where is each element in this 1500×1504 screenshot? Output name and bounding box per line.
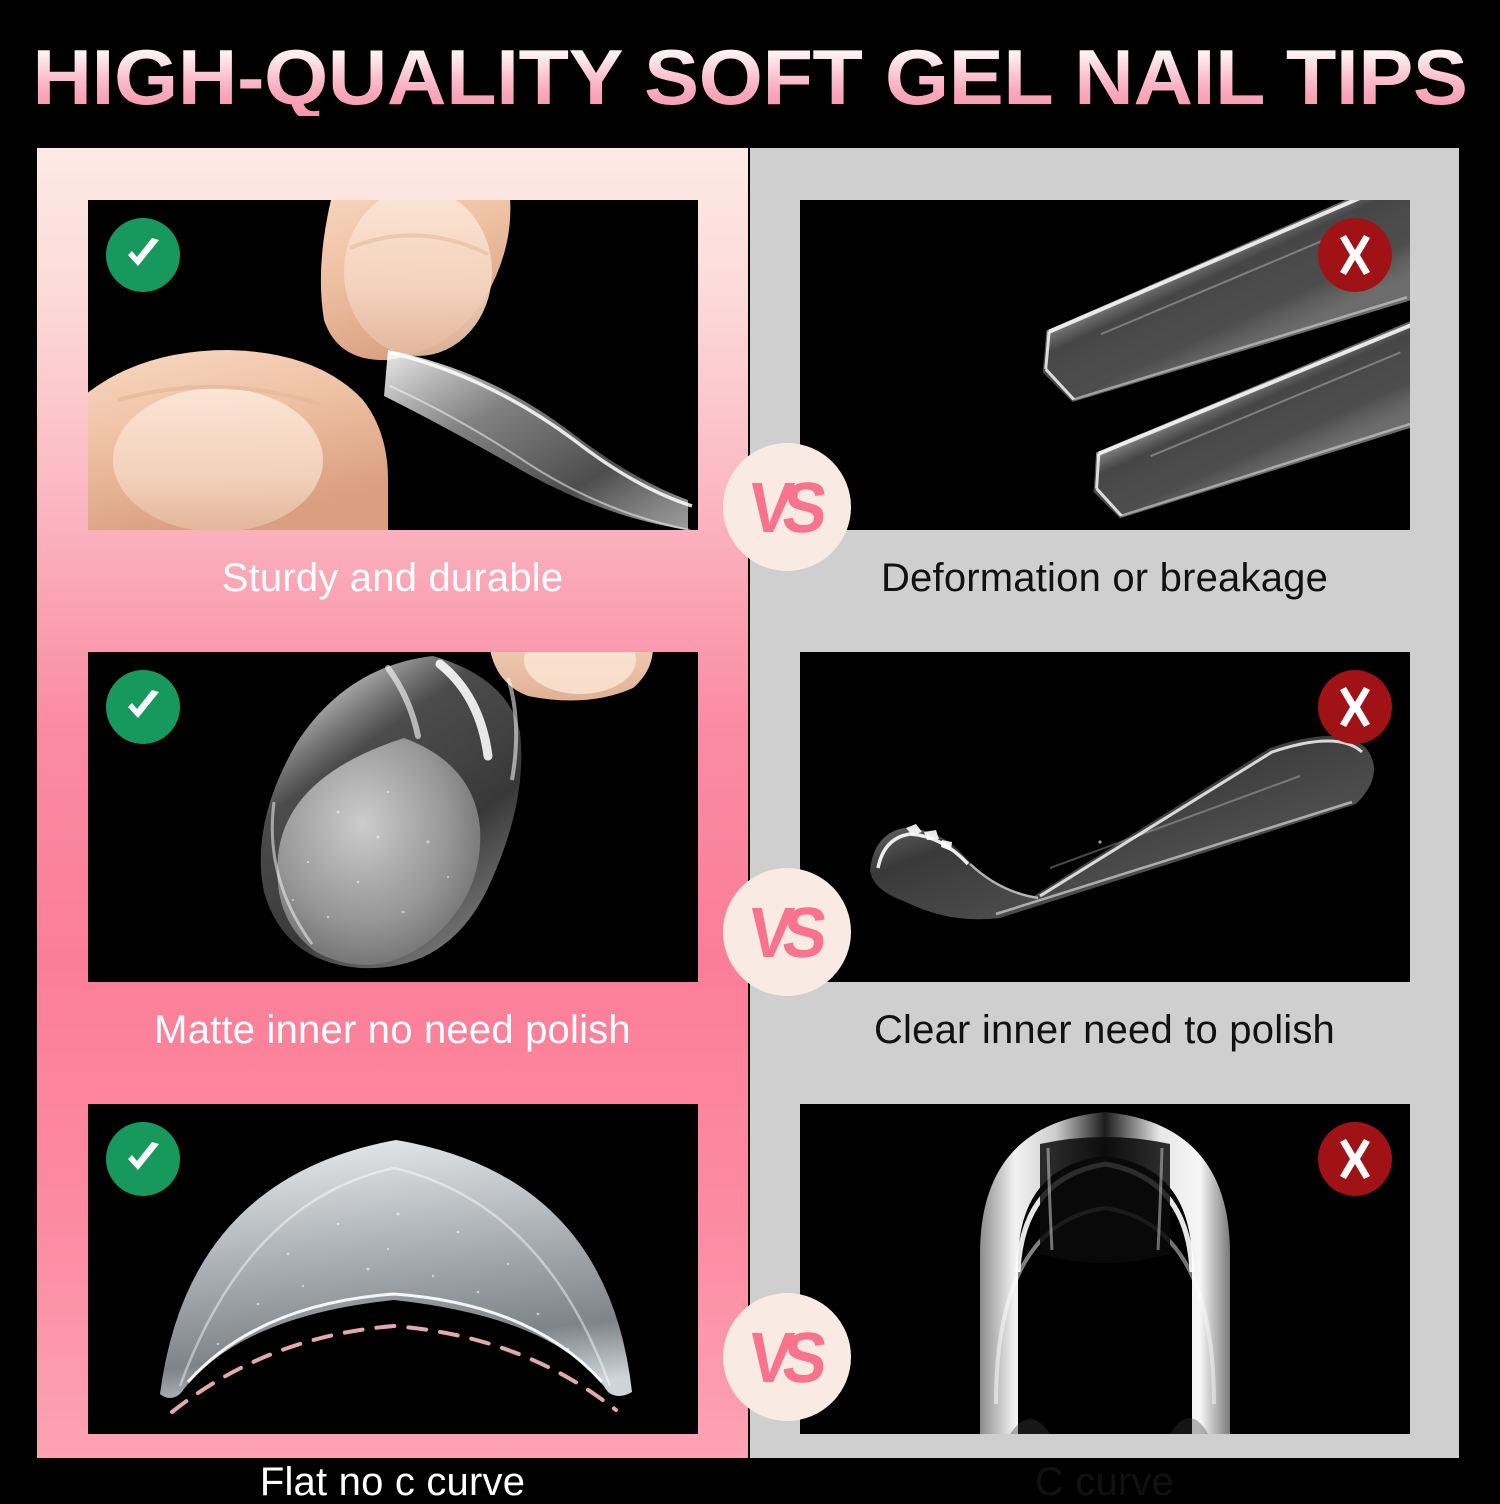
- bad-cell-deformation: Deformation or breakage: [764, 148, 1445, 600]
- vs-label: VS: [745, 1321, 829, 1392]
- cross-icon: [1318, 670, 1392, 744]
- title-bar: HIGH-QUALITY SOFT GEL NAIL TIPS: [0, 34, 1500, 120]
- bad-cell-clear-inner: Clear inner need to polish: [764, 600, 1445, 1052]
- caption-deformation-or-breakage: Deformation or breakage: [881, 556, 1328, 600]
- caption-sturdy-and-durable: Sturdy and durable: [222, 556, 564, 600]
- caption-matte-inner-no-need-polish: Matte inner no need polish: [154, 1008, 631, 1052]
- page-title: HIGH-QUALITY SOFT GEL NAIL TIPS: [32, 38, 1467, 116]
- caption-clear-inner-need-to-polish: Clear inner need to polish: [874, 1008, 1335, 1052]
- bad-panel: Deformation or breakage: [750, 148, 1459, 1458]
- check-icon: [106, 1122, 180, 1196]
- bad-cell-c-curve: C curve: [764, 1052, 1445, 1504]
- good-cell-matte-inner: Matte inner no need polish: [51, 600, 734, 1052]
- photo-deep-c-curve-tip: [800, 1104, 1410, 1434]
- cross-icon: [1318, 1122, 1392, 1196]
- caption-c-curve: C curve: [1035, 1460, 1174, 1504]
- photo-flat-arch-tip: [88, 1104, 698, 1434]
- good-cell-sturdy: Sturdy and durable: [51, 148, 734, 600]
- vs-badge-row-2: VS: [723, 868, 851, 996]
- caption-flat-no-c-curve: Flat no c curve: [260, 1460, 525, 1504]
- product-comparison-infographic: HIGH-QUALITY SOFT GEL NAIL TIPS: [0, 0, 1500, 1500]
- vs-label: VS: [745, 471, 829, 542]
- check-icon: [106, 218, 180, 292]
- photo-fingers-bending-tip: [88, 200, 698, 530]
- vs-badge-row-3: VS: [723, 1293, 851, 1421]
- good-panel: Sturdy and durable: [37, 148, 748, 1458]
- photo-side-view-clear-tip: [800, 652, 1410, 982]
- photo-matte-inner-tip: [88, 652, 698, 982]
- photo-broken-deformed-tips: [800, 200, 1410, 530]
- vs-label: VS: [745, 896, 829, 967]
- cross-icon: [1318, 218, 1392, 292]
- check-icon: [106, 670, 180, 744]
- good-cell-flat-no-c-curve: Flat no c curve: [51, 1052, 734, 1504]
- comparison-board: Sturdy and durable: [37, 148, 1459, 1458]
- vs-badge-row-1: VS: [723, 443, 851, 571]
